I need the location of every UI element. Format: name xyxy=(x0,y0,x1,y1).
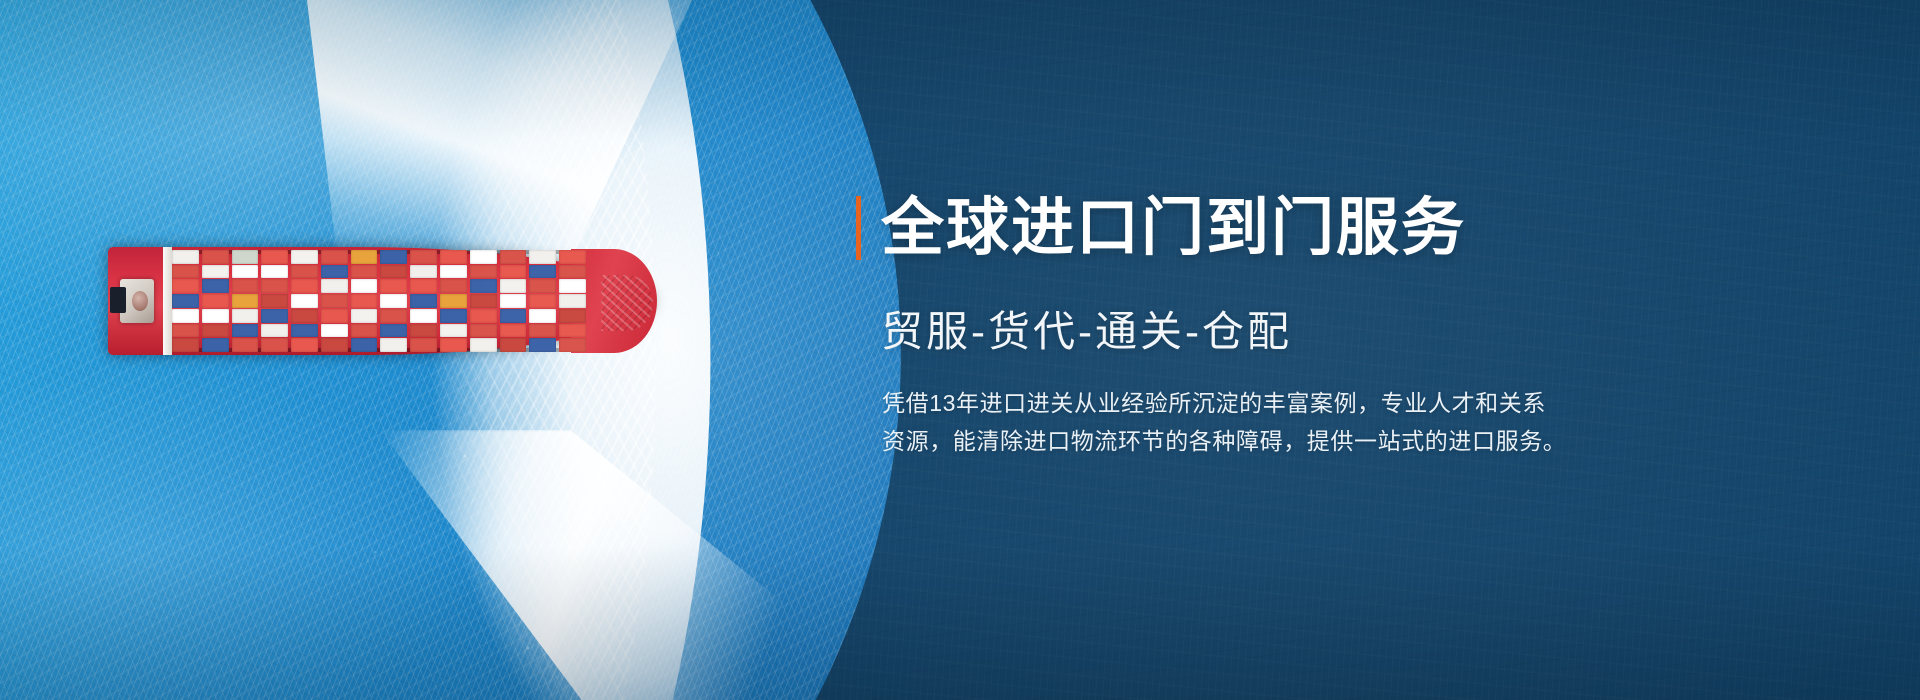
description-line-1: 凭借13年进口进关从业经验所沉淀的丰富案例，专业人才和关系 xyxy=(882,385,1762,422)
banner-copy: 全球进口门到门服务 贸服-货代-通关-仓配 凭借13年进口进关从业经验所沉淀的丰… xyxy=(856,196,1796,460)
hero-banner: 全球进口门到门服务 贸服-货代-通关-仓配 凭借13年进口进关从业经验所沉淀的丰… xyxy=(0,0,1920,700)
description-paragraph: 凭借13年进口进关从业经验所沉淀的丰富案例，专业人才和关系 资源，能清除进口物流… xyxy=(882,385,1762,460)
page-title: 全球进口门到门服务 xyxy=(881,196,1466,260)
description-line-2: 资源，能清除进口物流环节的各种障碍，提供一站式的进口服务。 xyxy=(882,423,1762,460)
service-subtitle: 贸服-货代-通关-仓配 xyxy=(881,298,1796,359)
title-row: 全球进口门到门服务 xyxy=(856,196,1796,260)
orange-accent-bar xyxy=(856,196,861,260)
